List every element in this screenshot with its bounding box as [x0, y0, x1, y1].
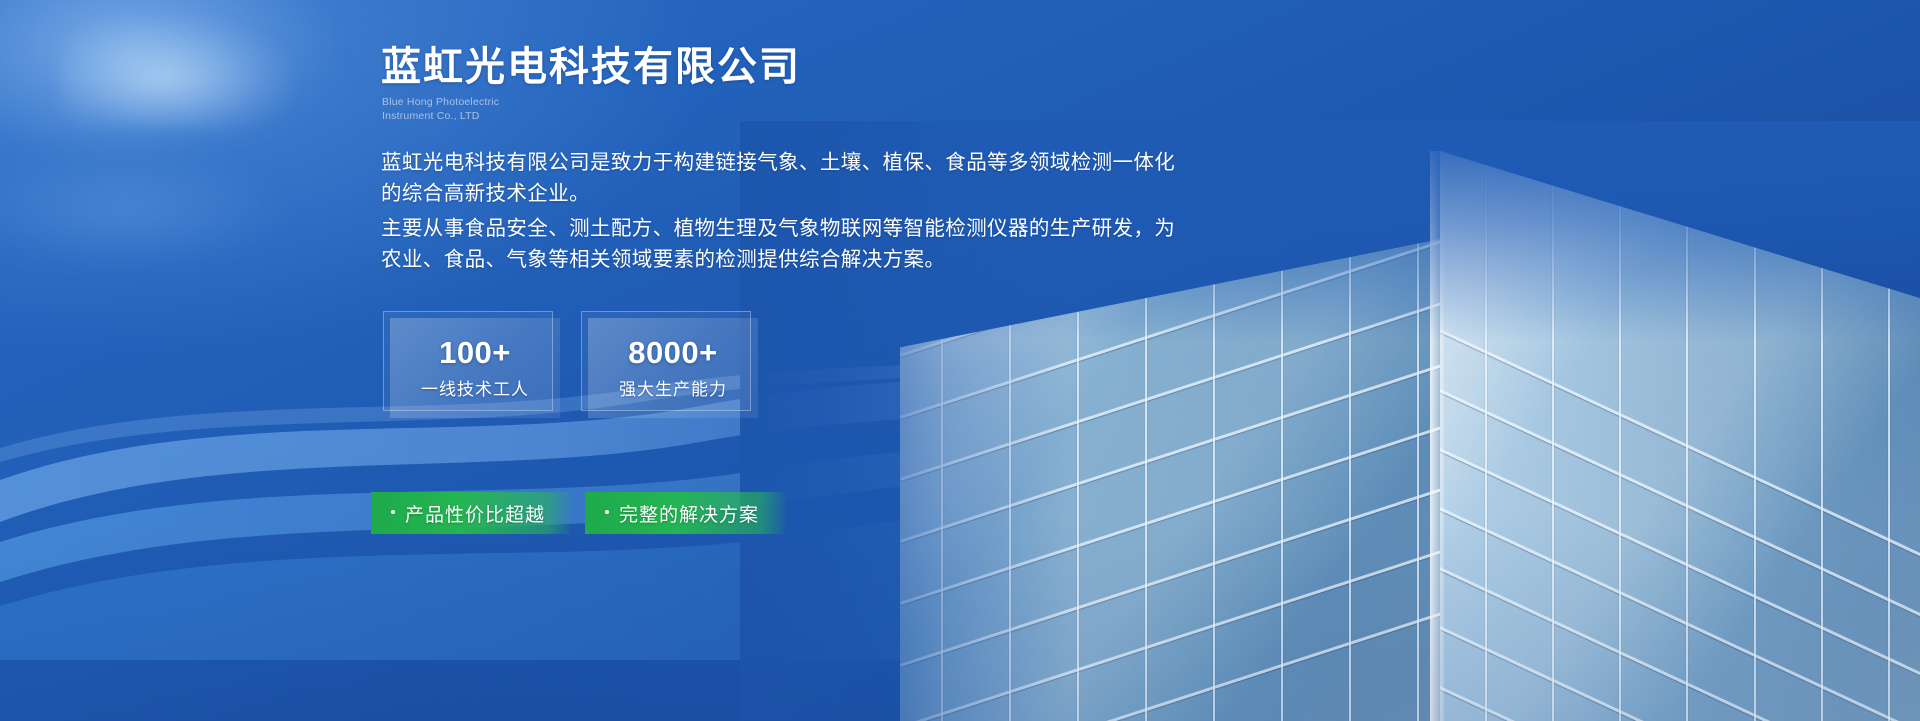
- subtitle-line-2: Instrument Co., LTD: [382, 109, 499, 123]
- stat-label: 一线技术工人: [421, 379, 529, 401]
- feature-tag-label: 产品性价比超越: [405, 500, 545, 527]
- banner-content: 蓝虹光电科技有限公司 Blue Hong Photoelectric Instr…: [0, 0, 1920, 721]
- subtitle-line-1: Blue Hong Photoelectric: [382, 95, 499, 109]
- stat-value: 8000+: [628, 335, 718, 371]
- page-title: 蓝虹光电科技有限公司: [381, 43, 801, 91]
- hero-banner: 蓝虹光电科技有限公司 Blue Hong Photoelectric Instr…: [0, 0, 1920, 721]
- description-paragraph-2: 主要从事食品安全、测土配方、植物生理及气象物联网等智能检测仪器的生产研发，为农业…: [381, 213, 1196, 275]
- stat-card-content: 8000+ 强大生产能力: [588, 318, 758, 418]
- feature-tags-group: 产品性价比超越 完整的解决方案: [371, 492, 785, 534]
- stat-value: 100+: [439, 335, 511, 371]
- statistics-group: 100+ 一线技术工人 8000+ 强大生产能力: [383, 311, 751, 411]
- bullet-dot-icon: [391, 510, 395, 514]
- company-subtitle-english: Blue Hong Photoelectric Instrument Co., …: [382, 95, 499, 123]
- bullet-dot-icon: [605, 510, 609, 514]
- stat-card-capacity: 8000+ 强大生产能力: [581, 311, 751, 411]
- stat-card-content: 100+ 一线技术工人: [390, 318, 560, 418]
- feature-tag-value[interactable]: 产品性价比超越: [371, 492, 571, 534]
- stat-label: 强大生产能力: [619, 379, 727, 401]
- feature-tag-label: 完整的解决方案: [619, 500, 759, 527]
- description-paragraph-1: 蓝虹光电科技有限公司是致力于构建链接气象、土壤、植保、食品等多领域检测一体化的综…: [381, 147, 1196, 209]
- stat-card-workers: 100+ 一线技术工人: [383, 311, 553, 411]
- feature-tag-solution[interactable]: 完整的解决方案: [585, 492, 785, 534]
